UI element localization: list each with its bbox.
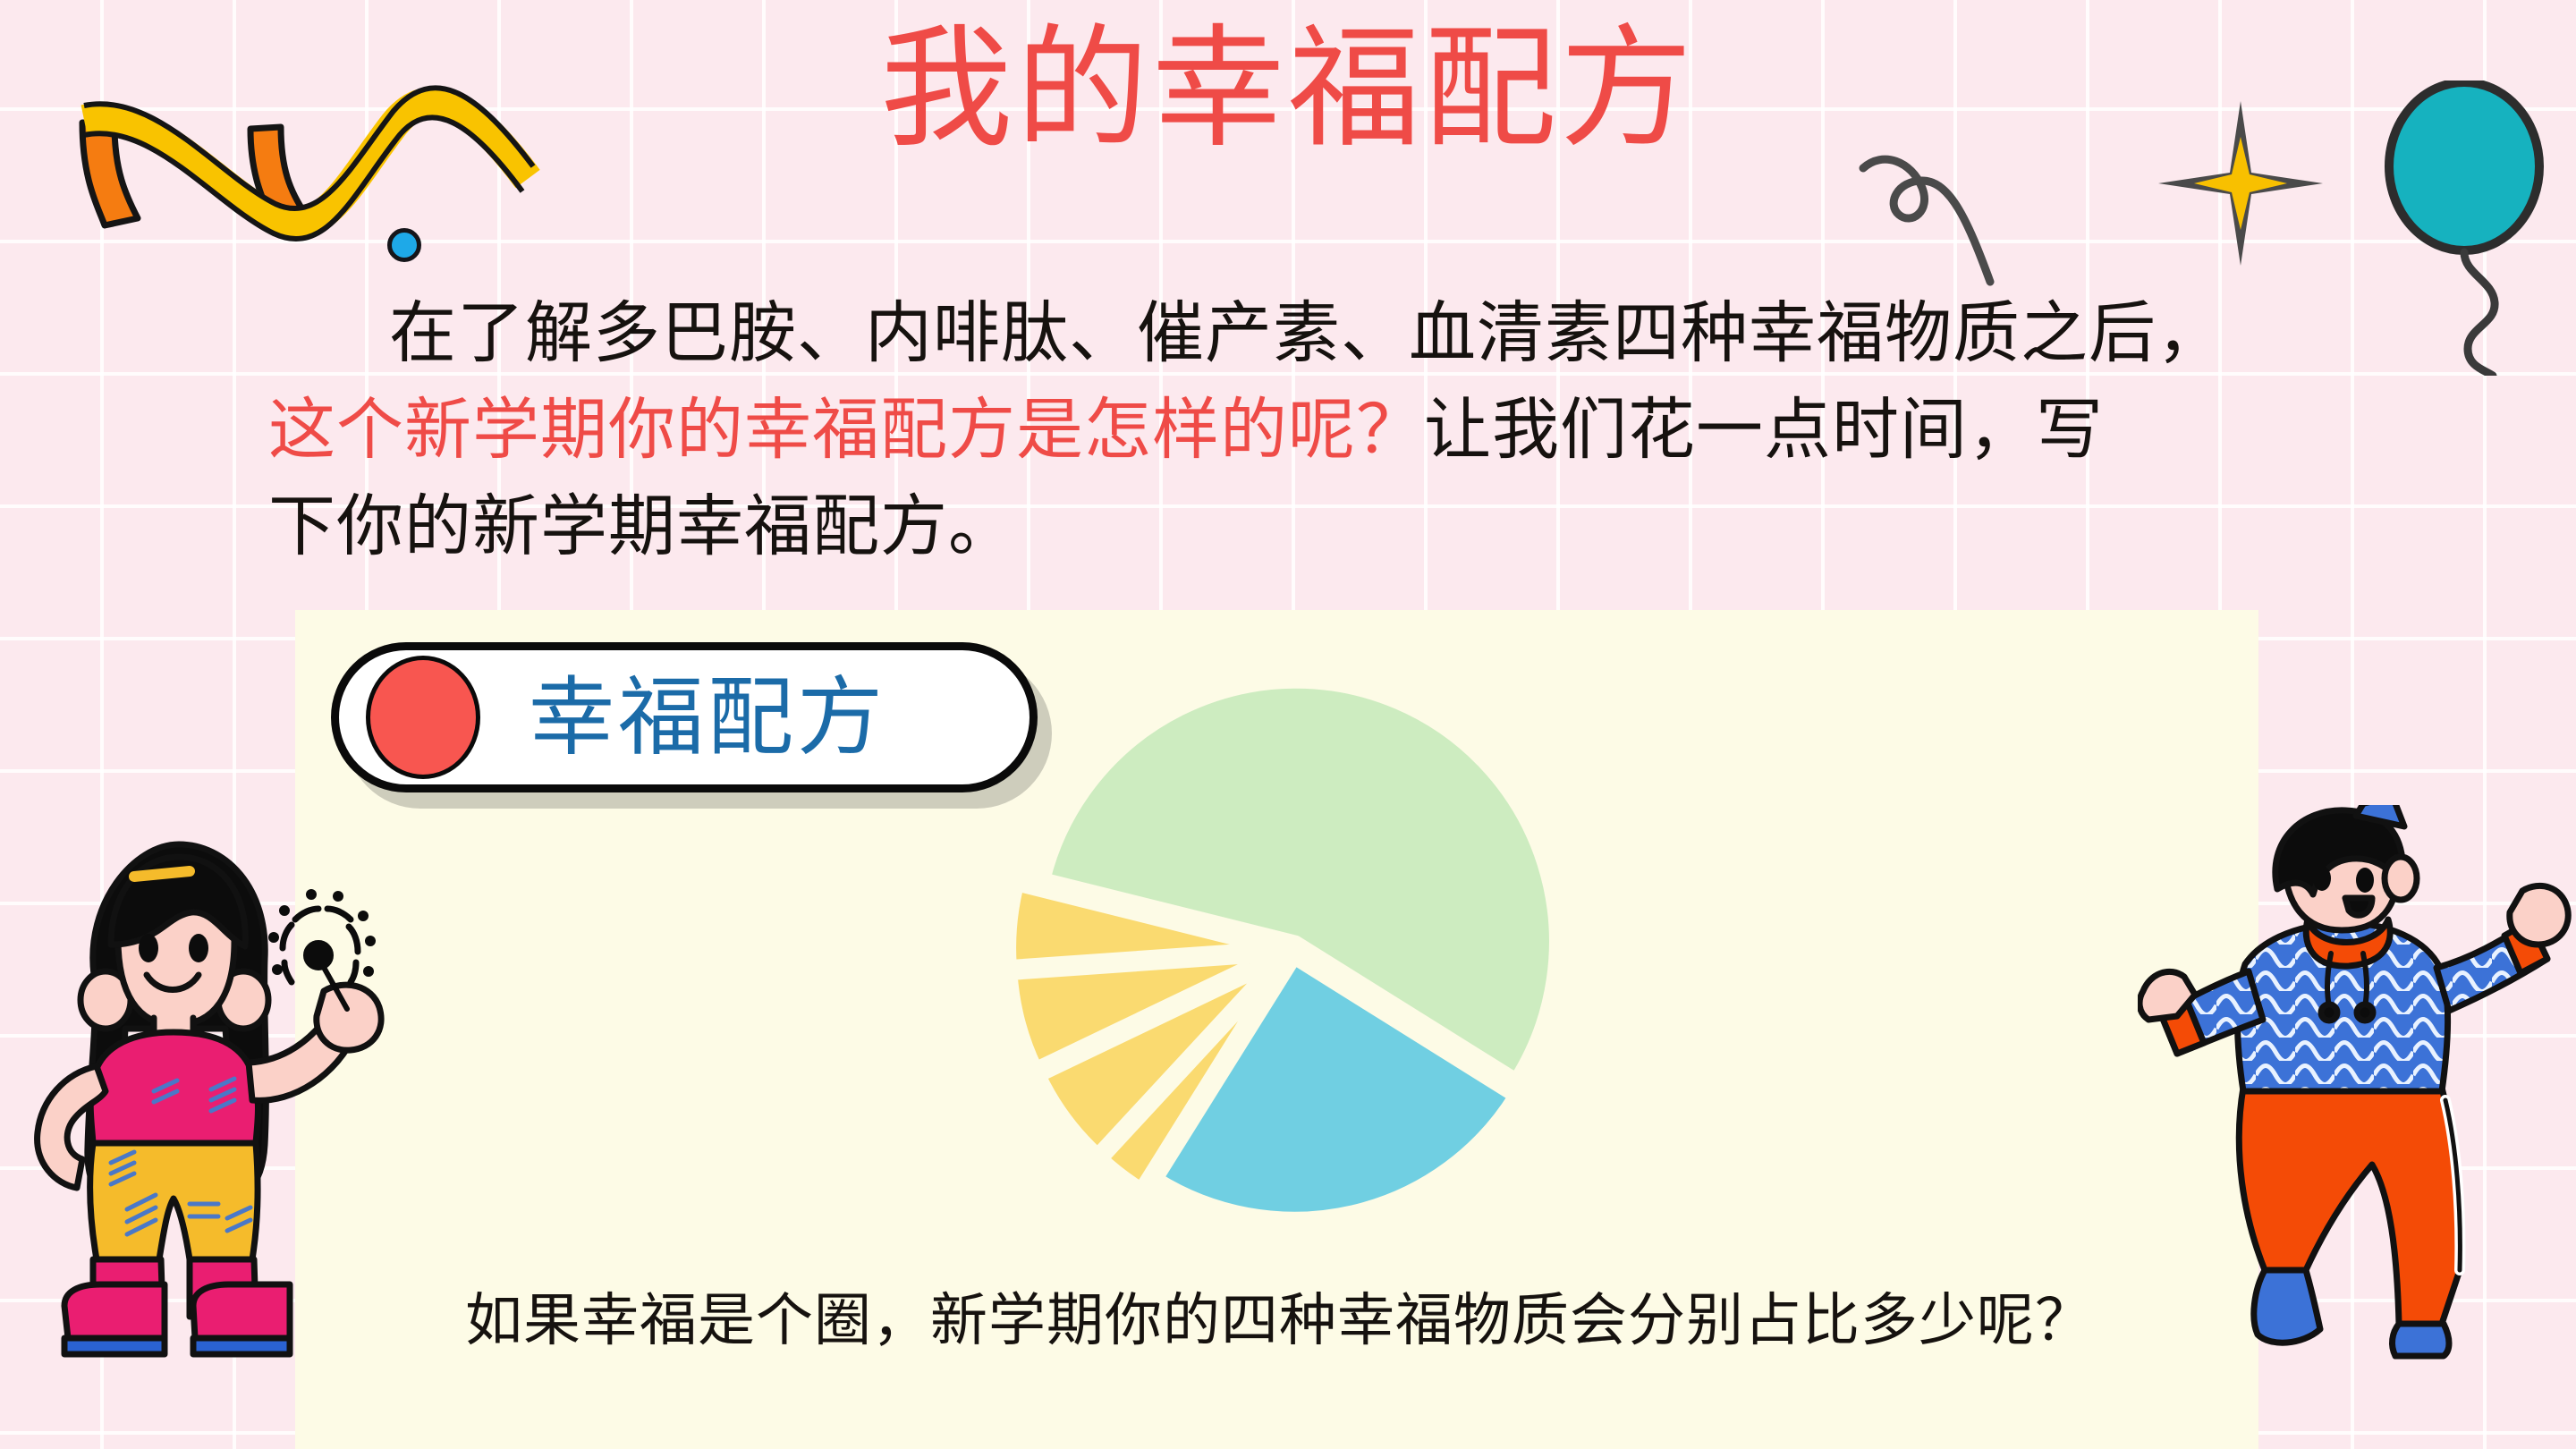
badge-label: 幸福配方 [529,674,886,760]
intro-highlight: 这个新学期你的幸福配方是怎样的呢？ [268,394,1424,468]
blue-dot-decoration [387,228,421,262]
happiness-pie-chart [1024,682,1561,1218]
intro-paragraph: 在了解多巴胺、内啡肽、催产素、血清素四种幸福物质之后， 这个新学期你的幸福配方是… [268,286,2352,576]
recipe-badge[interactable]: 幸福配方 [331,642,1038,792]
intro-line-3: 下你的新学期幸福配方。 [268,490,1016,564]
red-circle-icon [366,656,480,779]
girl-with-sparkler-illustration [0,805,420,1360]
intro-line-2-rest: 让我们花一点时间，写 [1424,394,2104,468]
page-title: 我的幸福配方 [0,20,2576,158]
chart-caption: 如果幸福是个圈，新学期你的四种幸福物质会分别占比多少呢？ [429,1279,2129,1363]
intro-line-1: 在了解多巴胺、内啡肽、催产素、血清素四种幸福物质之后， [389,297,2224,371]
cheering-boy-illustration [2138,805,2576,1360]
